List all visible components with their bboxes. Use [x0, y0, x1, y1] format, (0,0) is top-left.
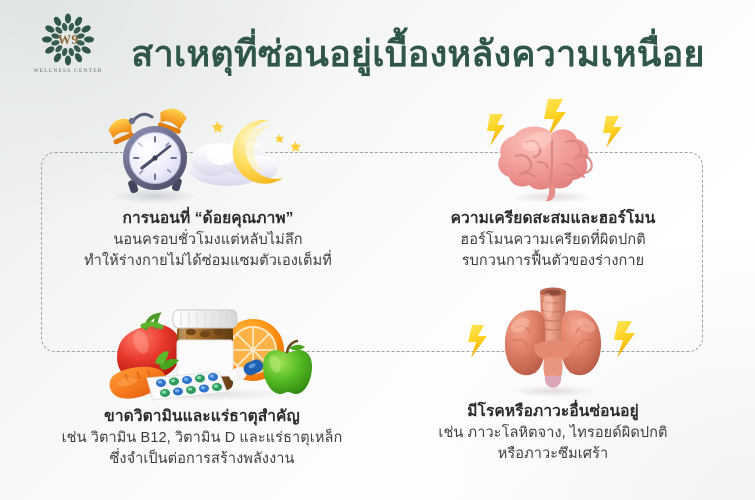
card-hidden-conditions: มีโรคหรือภาวะอื่นซ่อนอยู่ เช่น ภาวะโลหิต… [373, 285, 733, 465]
card-line: ซึ่งจำเป็นต่อการสร้างพลังงาน [22, 449, 382, 470]
card-heading: การนอนที่ “ด้อยคุณภาพ” [28, 208, 388, 230]
card-heading: ความเครียดสะสมและฮอร์โมน [373, 208, 733, 230]
card-chronic-stress-hormones: ความเครียดสะสมและฮอร์โมน ฮอร์โมนความเครี… [373, 96, 733, 272]
card-line: นอนครอบชั่วโมงแต่หลับไม่ลึก [28, 230, 388, 251]
card-heading: มีโรคหรือภาวะอื่นซ่อนอยู่ [373, 401, 733, 423]
vitamins-fruits-icon [87, 290, 317, 402]
infographic-canvas: W9 WELLNESS CENTER สาเหตุที่ซ่อนอยู่เบื้… [0, 0, 755, 500]
card-heading: ขาดวิตามินและแร่ธาตุสำคัญ [22, 406, 382, 428]
card-line: รบกวนการฟื้นตัวของร่างกาย [373, 251, 733, 272]
card-line: ฮอร์โมนความเครียดที่ผิดปกติ [373, 230, 733, 251]
card-line: เช่น วิตามิน B12, วิตามิน D และแร่ธาตุเห… [22, 428, 382, 449]
brain-lightning-icon [438, 96, 668, 204]
card-poor-sleep: การนอนที่ “ด้อยคุณภาพ” นอนครอบชั่วโมงแต่… [28, 96, 388, 272]
card-line: เช่น ภาวะโลหิตจาง, ไทรอยด์ผิดปกติ [373, 423, 733, 444]
card-line: หรือภาวะซึมเศร้า [373, 444, 733, 465]
page-title: สาเหตุที่ซ่อนอยู่เบื้องหลังความเหนื่อย [118, 27, 718, 79]
floral-wreath-icon: W9 [39, 13, 97, 66]
alarm-clock-moon-icon [93, 96, 323, 204]
brand-logo: W9 WELLNESS CENTER [25, 13, 111, 85]
card-line: ทำให้ร่างกายไม่ได้ซ่อมแซมตัวเองเต็มที่ [28, 251, 388, 272]
thyroid-lightning-icon [438, 285, 668, 397]
card-vitamin-mineral-deficiency: ขาดวิตามินและแร่ธาตุสำคัญ เช่น วิตามิน B… [22, 290, 382, 470]
logo-w9-text: W9 [39, 13, 97, 66]
logo-tagline: WELLNESS CENTER [33, 68, 102, 74]
